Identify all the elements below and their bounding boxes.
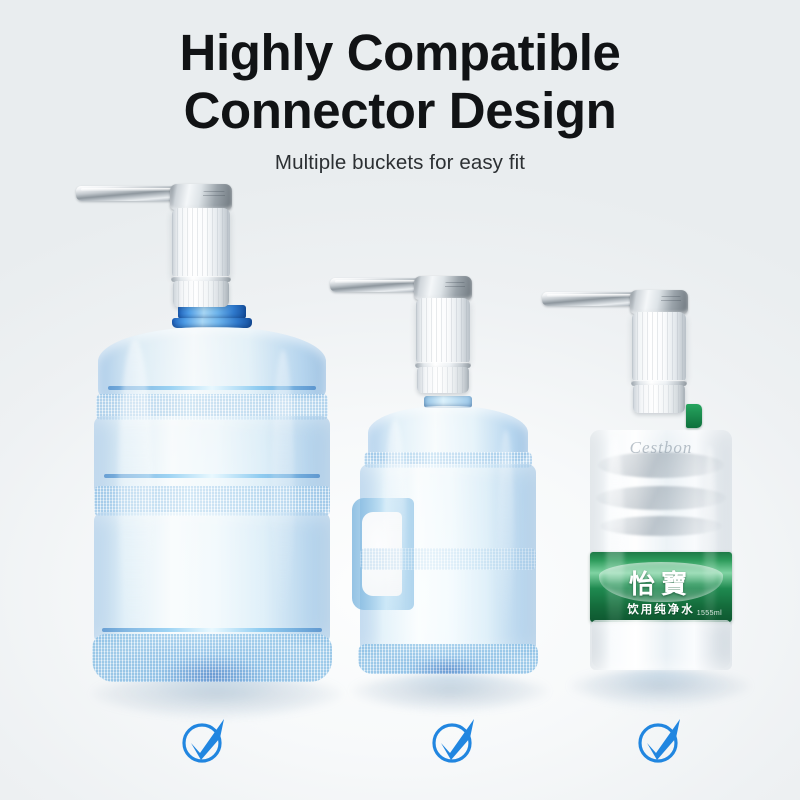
check-circle-icon: [636, 714, 686, 768]
bottle-base: [592, 620, 730, 668]
pump-top-cap[interactable]: [630, 290, 688, 314]
pump-body: [416, 298, 470, 364]
pump-vent-lines: [445, 282, 465, 289]
badge-cestbon-bottle: [636, 714, 686, 768]
pump-vent-lines: [203, 191, 224, 199]
badge-large-bucket: [180, 714, 230, 768]
pump-top-cap[interactable]: [170, 184, 232, 210]
bottle-hoop-top: [108, 386, 316, 390]
cestbon-reflection: [580, 670, 740, 712]
bottle-neck: [178, 305, 246, 319]
bottle-swirl-2: [596, 486, 726, 510]
bottle-swirl-3: [600, 516, 722, 536]
green-cap-tab: [686, 404, 702, 428]
compatibility-badges: [0, 714, 800, 776]
bottle-foot: [92, 634, 332, 682]
mini-bucket-reflection: [362, 674, 538, 714]
pump-base-collar: [173, 281, 229, 307]
bottle-label: 怡寶 饮用纯净水 1555ml: [590, 552, 732, 622]
pump-body: [172, 208, 230, 278]
bottle-hoop-bottom: [102, 628, 322, 632]
label-volume: 1555ml: [697, 610, 722, 617]
label-brand-cn: 怡寶: [590, 564, 732, 601]
mini-mid-band: [360, 548, 536, 570]
pump-base-collar: [633, 385, 685, 413]
pump-base-collar: [417, 367, 469, 393]
bottle-brand-emboss: Cestbon: [592, 438, 730, 478]
bottle-barrel-lower: [94, 512, 330, 644]
product-feature-image: Highly Compatible Connector Design Multi…: [0, 0, 800, 800]
check-circle-icon: [430, 714, 480, 768]
pump-body: [632, 312, 686, 382]
mini-foot: [358, 644, 538, 674]
pump-top-cap[interactable]: [414, 276, 472, 300]
check-circle-icon: [180, 714, 230, 768]
badge-mini-bucket: [430, 714, 480, 768]
product-stage: Cestbon 怡寶 饮用纯净水 1555ml: [0, 0, 800, 800]
bottle-hoop-mid: [104, 474, 320, 478]
pump-vent-lines: [661, 296, 681, 303]
